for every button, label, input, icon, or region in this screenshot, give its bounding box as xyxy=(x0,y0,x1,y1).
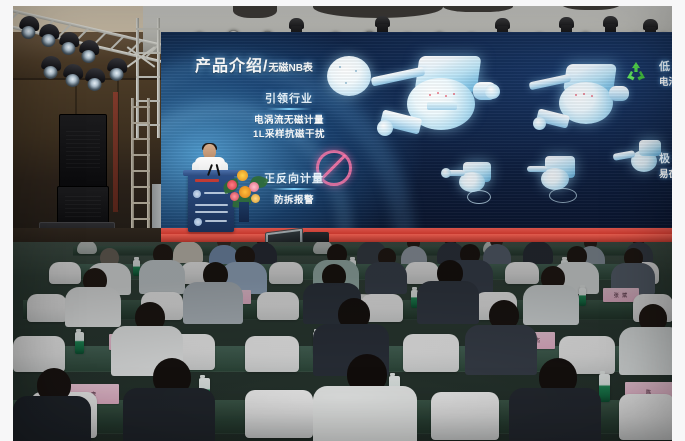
attendee xyxy=(509,358,601,441)
attendee xyxy=(619,304,672,374)
screenshot-frame: 产品介绍/无磁NB表 引领行业 电涡流无磁计量 1L采样抗磁干扰 正反向计量 防… xyxy=(0,0,685,441)
stage-lamp-icon xyxy=(62,63,84,89)
ceiling-shadow xyxy=(443,6,513,12)
attendee xyxy=(523,242,553,262)
chair xyxy=(27,294,67,322)
attendee xyxy=(123,358,215,441)
chair xyxy=(245,390,313,438)
podium-text-line xyxy=(195,211,228,213)
stage-lamp-icon xyxy=(40,55,62,81)
podium-accent-stripe xyxy=(195,179,219,182)
stage-lamp-icon xyxy=(57,31,80,58)
audience-area: 刘 王 张 斌 xyxy=(13,242,672,441)
flower-stand xyxy=(239,202,249,222)
chair xyxy=(245,336,299,372)
chair xyxy=(13,336,65,372)
floral-arrangement xyxy=(223,166,267,210)
podium-logo-icon xyxy=(194,218,202,226)
stage-lamp-icon xyxy=(37,23,60,50)
ceiling-shadow xyxy=(561,6,621,10)
chair xyxy=(269,262,303,284)
chair xyxy=(431,392,499,440)
water-bottle xyxy=(579,288,586,306)
truss-brace xyxy=(126,42,156,72)
attendee xyxy=(365,248,407,292)
pa-speaker-stack xyxy=(59,114,107,188)
conference-photo: 产品介绍/无磁NB表 引领行业 电涡流无磁计量 1L采样抗磁干扰 正反向计量 防… xyxy=(13,6,672,441)
water-bottle xyxy=(75,332,84,354)
attendee xyxy=(13,368,91,441)
name-card-text: 张 斌 xyxy=(614,292,628,299)
attendee xyxy=(139,244,185,292)
ceiling-shadow xyxy=(233,6,277,18)
attendee xyxy=(183,262,243,322)
stage-lamp-icon xyxy=(17,15,40,42)
stage-lamp-icon xyxy=(84,67,106,93)
chair xyxy=(619,394,672,440)
attendee xyxy=(313,354,417,441)
stage-lamp-icon xyxy=(106,57,128,83)
chair xyxy=(257,292,299,320)
stage-lamp-icon xyxy=(77,39,100,66)
attendee xyxy=(611,248,655,292)
wall-pipe xyxy=(113,92,118,212)
podium-logo-icon xyxy=(193,190,201,198)
podium-text-line xyxy=(205,220,227,222)
